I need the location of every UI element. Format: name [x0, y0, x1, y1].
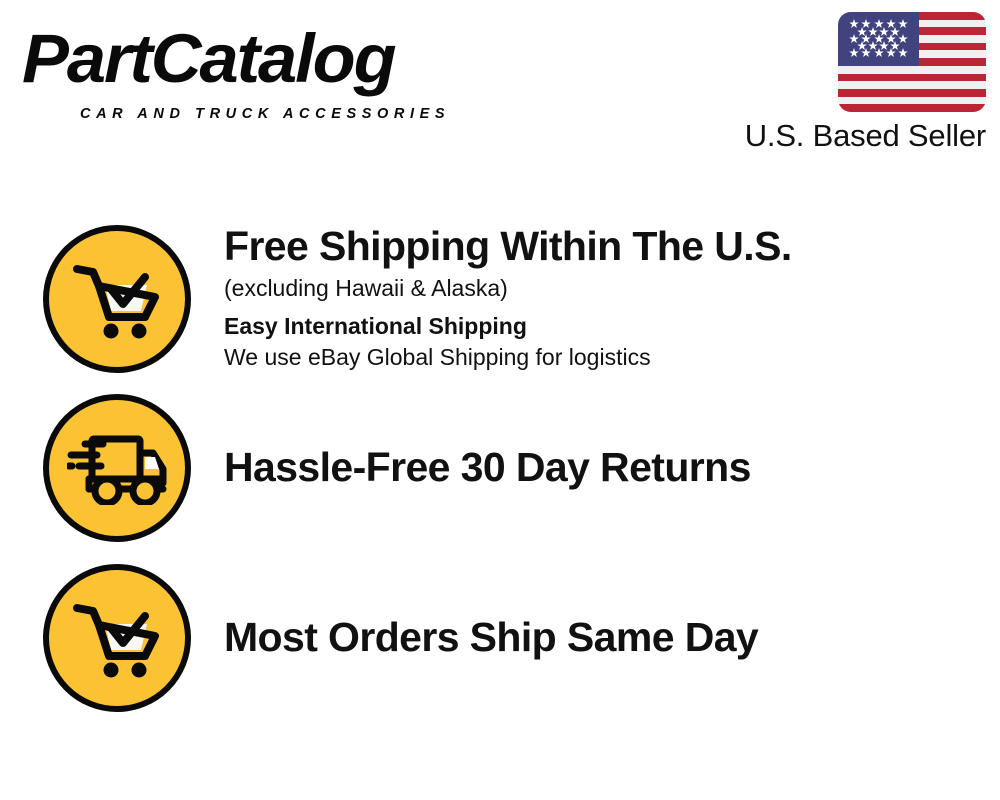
feature-heading: Hassle-Free 30 Day Returns	[224, 443, 1000, 491]
feature-text: Hassle-Free 30 Day Returns	[224, 443, 1000, 493]
us-based-seller-badge: U.S. Based Seller	[716, 12, 986, 154]
flag-stripe	[838, 104, 986, 112]
shopping-cart-check-icon	[43, 225, 191, 373]
feature-text: Free Shipping Within The U.S. (excluding…	[224, 222, 1000, 375]
feature-subheading: Easy International Shipping	[224, 311, 1000, 342]
feature-heading: Free Shipping Within The U.S.	[224, 222, 1000, 270]
us-flag-icon	[838, 12, 986, 112]
brand-wordmark: PartCatalog	[22, 20, 395, 98]
delivery-truck-icon	[43, 394, 191, 542]
flag-stripe	[838, 81, 986, 89]
shopping-cart-check-icon	[43, 564, 191, 712]
feature-text: Most Orders Ship Same Day	[224, 613, 1000, 663]
flag-stripe	[838, 66, 986, 74]
brand-logo: PartCatalog CAR AND TRUCK ACCESSORIES	[22, 20, 492, 116]
flag-stripe	[838, 97, 986, 105]
feature-row: Hassle-Free 30 Day Returns	[0, 394, 1000, 542]
flag-canton	[838, 12, 919, 66]
brand-tagline: CAR AND TRUCK ACCESSORIES	[80, 106, 450, 122]
feature-subtext: We use eBay Global Shipping for logistic…	[224, 342, 1000, 373]
feature-note: (excluding Hawaii & Alaska)	[224, 273, 1000, 304]
flag-stripe	[838, 89, 986, 97]
us-based-seller-label: U.S. Based Seller	[716, 118, 986, 154]
feature-row: Free Shipping Within The U.S. (excluding…	[0, 222, 1000, 375]
feature-heading: Most Orders Ship Same Day	[224, 613, 1000, 661]
feature-row: Most Orders Ship Same Day	[0, 564, 1000, 712]
flag-stripe	[838, 74, 986, 82]
